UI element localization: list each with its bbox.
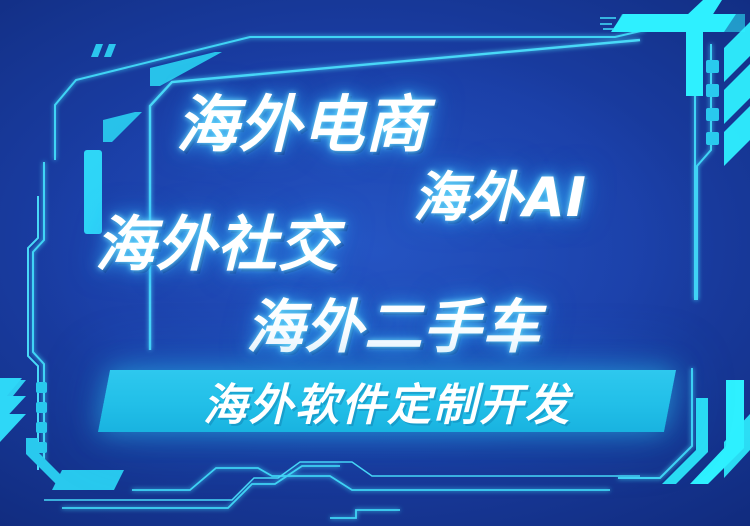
headline-2-overseas-ai: 海外AI (413, 153, 587, 232)
headline-3-overseas-social: 海外社交 (95, 196, 339, 283)
poster-canvas: 海外电商 海外AI 海外社交 海外二手车 海外软件定制开发 (0, 0, 750, 526)
banner-label-software-customization: 海外软件定制开发 (104, 370, 670, 432)
headline-stack: 海外电商 海外AI 海外社交 海外二手车 (0, 0, 750, 526)
headline-4-overseas-used-cars: 海外二手车 (246, 280, 541, 364)
headline-1-cross-border-ecommerce: 海外电商 (176, 74, 428, 164)
